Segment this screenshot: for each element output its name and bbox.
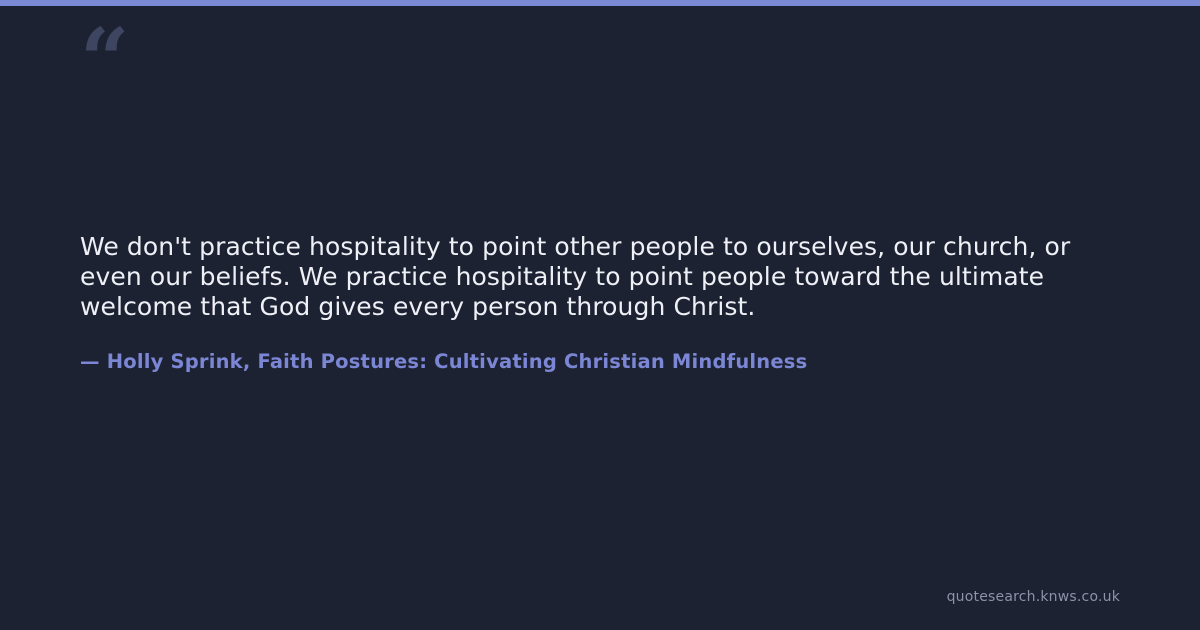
top-accent-bar — [0, 0, 1200, 6]
quote-attribution: —Holly Sprink, Faith Postures: Cultivati… — [80, 348, 1120, 376]
opening-quote-icon: “ — [80, 18, 127, 104]
source-url-label: quotesearch.knws.co.uk — [947, 588, 1120, 606]
em-dash: — — [80, 350, 100, 373]
quote-text: We don't practice hospitality to point o… — [80, 232, 1110, 322]
quote-card: “ We don't practice hospitality to point… — [0, 0, 1200, 630]
attribution-label: Holly Sprink, Faith Postures: Cultivatin… — [107, 350, 808, 373]
